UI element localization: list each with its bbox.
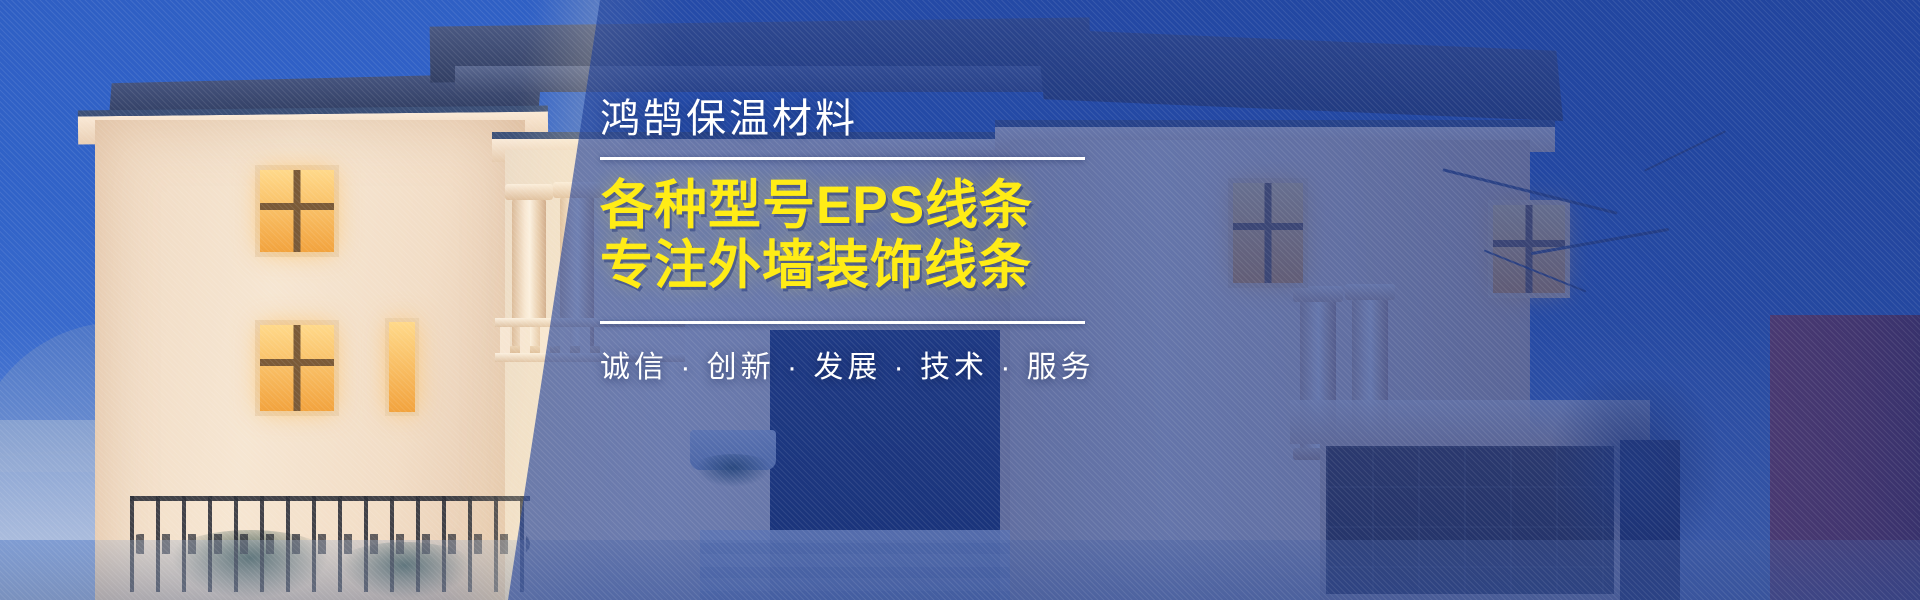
window-glow-left-lower	[260, 325, 334, 411]
promotional-banner: 鸿鹄保温材料 各种型号EPS线条 专注外墙装饰线条 诚信 · 创新 · 发展 ·…	[0, 0, 1920, 600]
headline-line-1: 各种型号EPS线条	[600, 176, 1120, 235]
brand-name: 鸿鹄保温材料	[600, 96, 1120, 143]
divider-bottom	[600, 321, 1085, 324]
window-glow-left-upper	[260, 170, 334, 252]
banner-text-block: 鸿鹄保温材料 各种型号EPS线条 专注外墙装饰线条 诚信 · 创新 · 发展 ·…	[600, 96, 1120, 386]
window-frame-left-upper	[255, 165, 339, 257]
window-glow-left-narrow	[389, 322, 415, 412]
window-frame-left-lower	[255, 320, 339, 416]
headline-line-2: 专注外墙装饰线条	[600, 236, 1120, 295]
tagline: 诚信 · 创新 · 发展 · 技术 · 服务	[600, 342, 1120, 386]
divider-top	[600, 157, 1085, 160]
window-frame-left-narrow	[385, 318, 419, 416]
